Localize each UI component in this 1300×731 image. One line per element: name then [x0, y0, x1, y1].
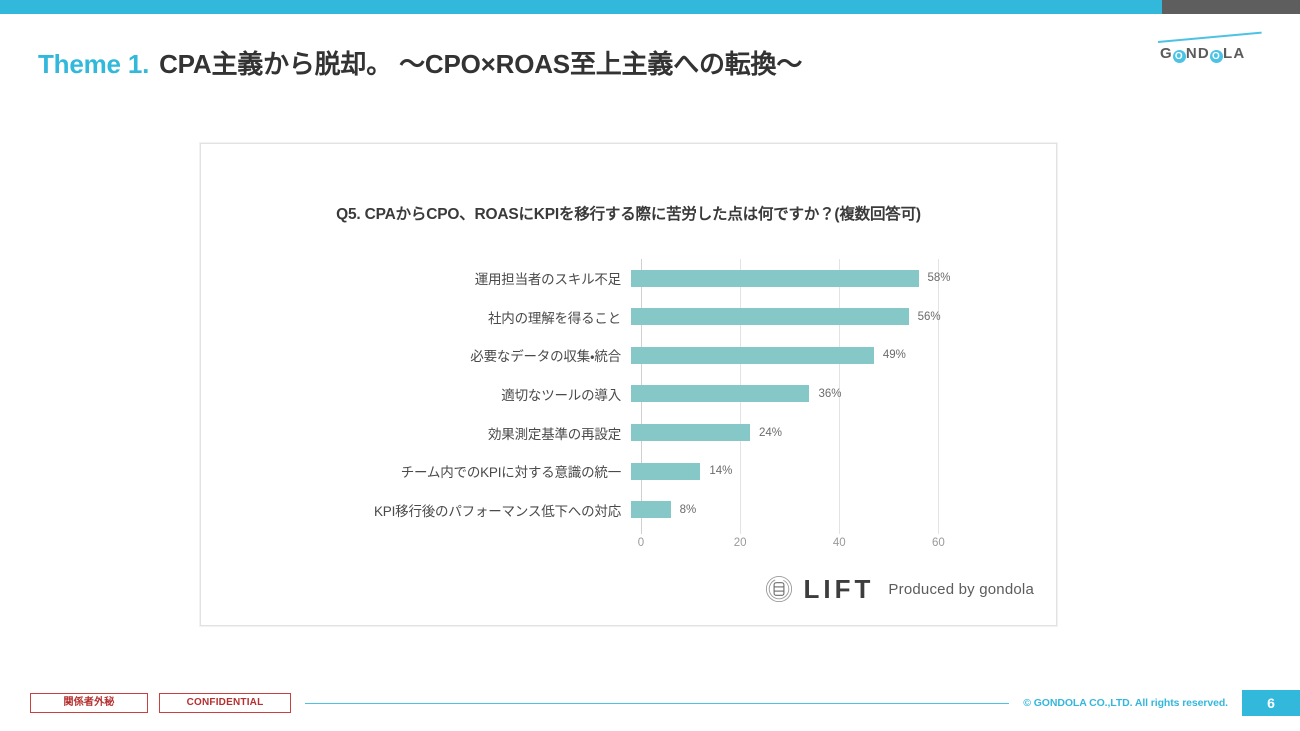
chart-bar-track: 36% — [631, 375, 986, 413]
chart-bar-track: 8% — [631, 491, 986, 529]
gondola-o-first-icon: O — [1173, 50, 1186, 63]
chart-x-tick-label: 60 — [932, 537, 945, 549]
chart-bar-track: 56% — [631, 298, 986, 336]
chart-bar-row: 社内の理解を得ること56% — [241, 298, 986, 336]
page-title: Theme 1.CPA主義から脱却。 ～CPO×ROAS至上主義への転換～ — [38, 44, 802, 81]
gondola-logo: GONDOLA — [1158, 32, 1262, 72]
chart-bar-row: 必要なデータの収集・統合49% — [241, 336, 986, 374]
chart-bar-track: 58% — [631, 259, 986, 297]
chart-bar-value-label: 36% — [818, 388, 841, 400]
chart-category-label: 社内の理解を得ること — [241, 307, 631, 327]
footer-row: 関係者外秘 CONFIDENTIAL © GONDOLA CO.,LTD. Al… — [30, 691, 1300, 715]
slide-header: Theme 1.CPA主義から脱却。 ～CPO×ROAS至上主義への転換～ — [0, 36, 1300, 88]
chart-category-label: 運用担当者のスキル不足 — [241, 268, 631, 288]
chart-bar-value-label: 49% — [883, 349, 906, 361]
footer-divider — [305, 703, 1009, 704]
chart-x-tick-label: 20 — [734, 537, 747, 549]
gondola-wordmark: GONDOLA — [1160, 46, 1245, 62]
chart-category-label: KPI移行後のパフォーマンス低下への対応 — [241, 500, 631, 520]
lift-brand-block: LIFT Produced by gondola — [765, 575, 1034, 603]
status-badge-confidential-ja: 関係者外秘 — [30, 693, 148, 713]
theme-label: Theme 1. — [38, 49, 149, 79]
chart-x-axis: 0204060 — [641, 537, 986, 557]
chart-bar-track: 14% — [631, 452, 986, 490]
top-accent-gray — [1162, 0, 1300, 14]
chart-bar-value-label: 8% — [680, 504, 697, 516]
gondola-la: LA — [1223, 45, 1245, 62]
chart-category-label: チーム内でのKPIに対する意識の統一 — [241, 461, 631, 481]
chart-bar — [631, 424, 750, 441]
chart-category-label: 適切なツールの導入 — [241, 384, 631, 404]
slide-footer: 関係者外秘 CONFIDENTIAL © GONDOLA CO.,LTD. Al… — [0, 675, 1300, 731]
copyright-text: © GONDOLA CO.,LTD. All rights reserved. — [1023, 697, 1228, 709]
lift-wordmark: LIFT — [804, 576, 875, 602]
slide-root: Theme 1.CPA主義から脱却。 ～CPO×ROAS至上主義への転換～ GO… — [0, 0, 1300, 731]
chart-bar-value-label: 24% — [759, 427, 782, 439]
chart-bar-value-label: 56% — [918, 311, 941, 323]
gondola-wire-icon — [1158, 32, 1262, 43]
chart-category-label: 効果測定基準の再設定 — [241, 423, 631, 443]
chart-category-label: 必要なデータの収集・統合 — [241, 345, 631, 365]
chart-bar — [631, 463, 700, 480]
chart-bar — [631, 270, 919, 287]
chart-bar — [631, 308, 909, 325]
chart-bar-row: 効果測定基準の再設定24% — [241, 414, 986, 452]
chart-bar-row: チーム内でのKPIに対する意識の統一14% — [241, 452, 986, 490]
chart-bar-value-label: 14% — [709, 465, 732, 477]
chart-title: Q5. CPAからCPO、ROASにKPIを移行する際に苦労した点は何ですか？(… — [201, 202, 1056, 224]
chart-bar-track: 24% — [631, 414, 986, 452]
chart-bar — [631, 501, 671, 518]
chart-bar-value-label: 58% — [928, 272, 951, 284]
chart-plot-area: 運用担当者のスキル不足58%社内の理解を得ること56%必要なデータの収集・統合4… — [241, 259, 986, 549]
chart-bar-row: 運用担当者のスキル不足58% — [241, 259, 986, 297]
gondola-nd: ND — [1186, 45, 1210, 62]
chart-card: Q5. CPAからCPO、ROASにKPIを移行する際に苦労した点は何ですか？(… — [200, 143, 1057, 626]
top-accent-bar — [0, 0, 1300, 14]
chart-bar-track: 49% — [631, 336, 986, 374]
gondola-g: G — [1160, 45, 1173, 62]
chart-bar — [631, 347, 874, 364]
chart-bar — [631, 385, 809, 402]
page-number: 6 — [1242, 690, 1300, 716]
chart-bars: 運用担当者のスキル不足58%社内の理解を得ること56%必要なデータの収集・統合4… — [241, 259, 986, 529]
title-text: CPA主義から脱却。 ～CPO×ROAS至上主義への転換～ — [159, 49, 802, 79]
lift-tagline: Produced by gondola — [888, 581, 1034, 598]
chart-bar-row: 適切なツールの導入36% — [241, 375, 986, 413]
chart-x-tick-label: 0 — [638, 537, 644, 549]
chart-x-tick-label: 40 — [833, 537, 846, 549]
chart-bar-row: KPI移行後のパフォーマンス低下への対応8% — [241, 491, 986, 529]
lift-circle-icon — [765, 575, 793, 603]
top-accent-cyan — [0, 0, 1162, 14]
gondola-o-second-icon: O — [1210, 50, 1223, 63]
status-badge-confidential-en: CONFIDENTIAL — [159, 693, 291, 713]
